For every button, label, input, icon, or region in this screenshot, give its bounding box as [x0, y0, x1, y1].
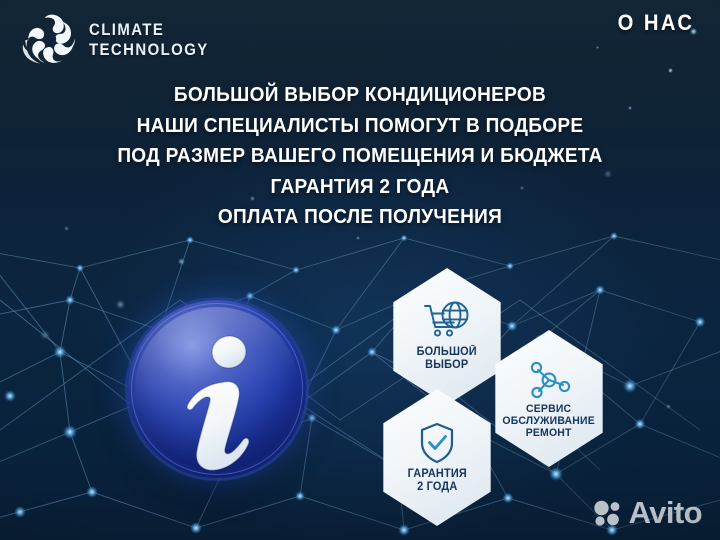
brand-logo[interactable]: CLIMATE TECHNOLOGY — [22, 10, 225, 68]
swirl-fan-logo-icon — [22, 10, 80, 68]
feature-warranty-label-2: 2 ГОДА — [407, 481, 466, 494]
headline-line-3: ПОД РАЗМЕР ВАШЕГО ПОМЕЩЕНИЯ И БЮДЖЕТА — [25, 145, 695, 167]
info-letter-i — [128, 300, 306, 478]
feature-choice-label-2: ВЫБОР — [417, 359, 477, 372]
headline-line-2: НАШИ СПЕЦИАЛИСТЫ ПОМОГУТ В ПОДБОРЕ — [25, 115, 695, 137]
background-network-graphic — [0, 0, 720, 540]
headline-line-4: ГАРАНТИЯ 2 ГОДА — [25, 176, 695, 198]
feature-warranty-label-1: ГАРАНТИЯ — [407, 468, 466, 481]
feature-service-label-3: РЕМОНТ — [503, 427, 595, 439]
feature-service-label-2: ОБСЛУЖИВАНИЕ — [503, 415, 595, 427]
brand-line-2: TECHNOLOGY — [89, 41, 209, 58]
network-nodes-icon — [525, 358, 573, 400]
headline-line-5: ОПЛАТА ПОСЛЕ ПОЛУЧЕНИЯ — [25, 206, 695, 228]
shopping-cart-globe-icon — [422, 301, 472, 343]
section-title: О НАС — [617, 10, 694, 36]
poster-canvas: CLIMATE TECHNOLOGY О НАС БОЛЬШОЙ ВЫБОР К… — [0, 0, 720, 540]
poster-header: CLIMATE TECHNOLOGY О НАС — [0, 0, 720, 78]
feature-choice-label-1: БОЛЬШОЙ — [417, 346, 477, 359]
headline-line-1: БОЛЬШОЙ ВЫБОР КОНДИЦИОНЕРОВ — [25, 84, 695, 106]
feature-service-label-1: СЕРВИС — [503, 403, 595, 415]
information-circle-icon — [128, 300, 306, 478]
avito-dots-icon — [593, 500, 623, 526]
brand-line-1: CLIMATE — [89, 21, 209, 38]
avito-wordmark: Avito — [629, 497, 702, 528]
avito-watermark: Avito — [593, 497, 702, 528]
headline-block: БОЛЬШОЙ ВЫБОР КОНДИЦИОНЕРОВ НАШИ СПЕЦИАЛ… — [0, 84, 720, 237]
shield-check-icon — [417, 421, 457, 465]
